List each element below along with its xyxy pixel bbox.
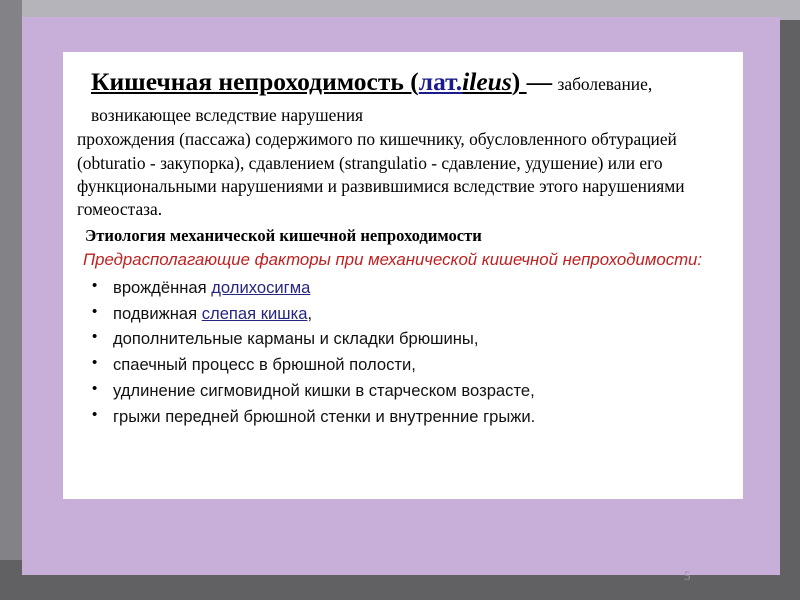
list-item-text: подвижная xyxy=(113,304,202,323)
list-item: врождённая долихосигма xyxy=(77,277,729,298)
predisposing-factors-heading: Предрасполагающие факторы при механическ… xyxy=(83,249,725,271)
etiology-heading: Этиология механической кишечной непроход… xyxy=(85,225,729,247)
list-item-text: грыжи передней брюшной стенки и внутренн… xyxy=(113,407,535,426)
slide-title-dash: — xyxy=(527,67,558,96)
list-item-link[interactable]: долихосигма xyxy=(211,278,310,297)
definition-paragraph: прохождения (пассажа) содержимого по киш… xyxy=(77,128,727,222)
slide-title-ileus: ileus xyxy=(462,67,512,96)
latin-link[interactable]: лат. xyxy=(419,67,462,96)
list-item-text: врождённая xyxy=(113,278,211,297)
slide-title-main: Кишечная непроходимость ( xyxy=(91,67,419,96)
slide-title-close-paren: ) xyxy=(512,67,527,96)
list-item-text: дополнительные карманы и складки брюшины… xyxy=(113,329,478,348)
list-item-link[interactable]: слепая кишка xyxy=(202,304,308,323)
presentation-viewer: Кишечная непроходимость (лат.ileus) — за… xyxy=(0,0,800,600)
slide-title: Кишечная непроходимость (лат.ileus) — за… xyxy=(91,66,729,128)
list-item: дополнительные карманы и складки брюшины… xyxy=(77,328,729,349)
slide-content-panel: Кишечная непроходимость (лат.ileus) — за… xyxy=(63,52,743,499)
slide-canvas: Кишечная непроходимость (лат.ileus) — за… xyxy=(22,17,780,575)
viewer-left-band xyxy=(0,0,22,560)
list-item-suffix: , xyxy=(307,304,312,323)
list-item: грыжи передней брюшной стенки и внутренн… xyxy=(77,406,729,427)
predisposing-factors-list: врождённая долихосигма подвижная слепая … xyxy=(77,277,729,427)
list-item: удлинение сигмовидной кишки в старческом… xyxy=(77,380,729,401)
page-number: 5 xyxy=(684,568,691,584)
list-item: подвижная слепая кишка, xyxy=(77,303,729,324)
list-item: спаечный процесс в брюшной полости, xyxy=(77,354,729,375)
list-item-text: спаечный процесс в брюшной полости, xyxy=(113,355,416,374)
list-item-text: удлинение сигмовидной кишки в старческом… xyxy=(113,381,535,400)
